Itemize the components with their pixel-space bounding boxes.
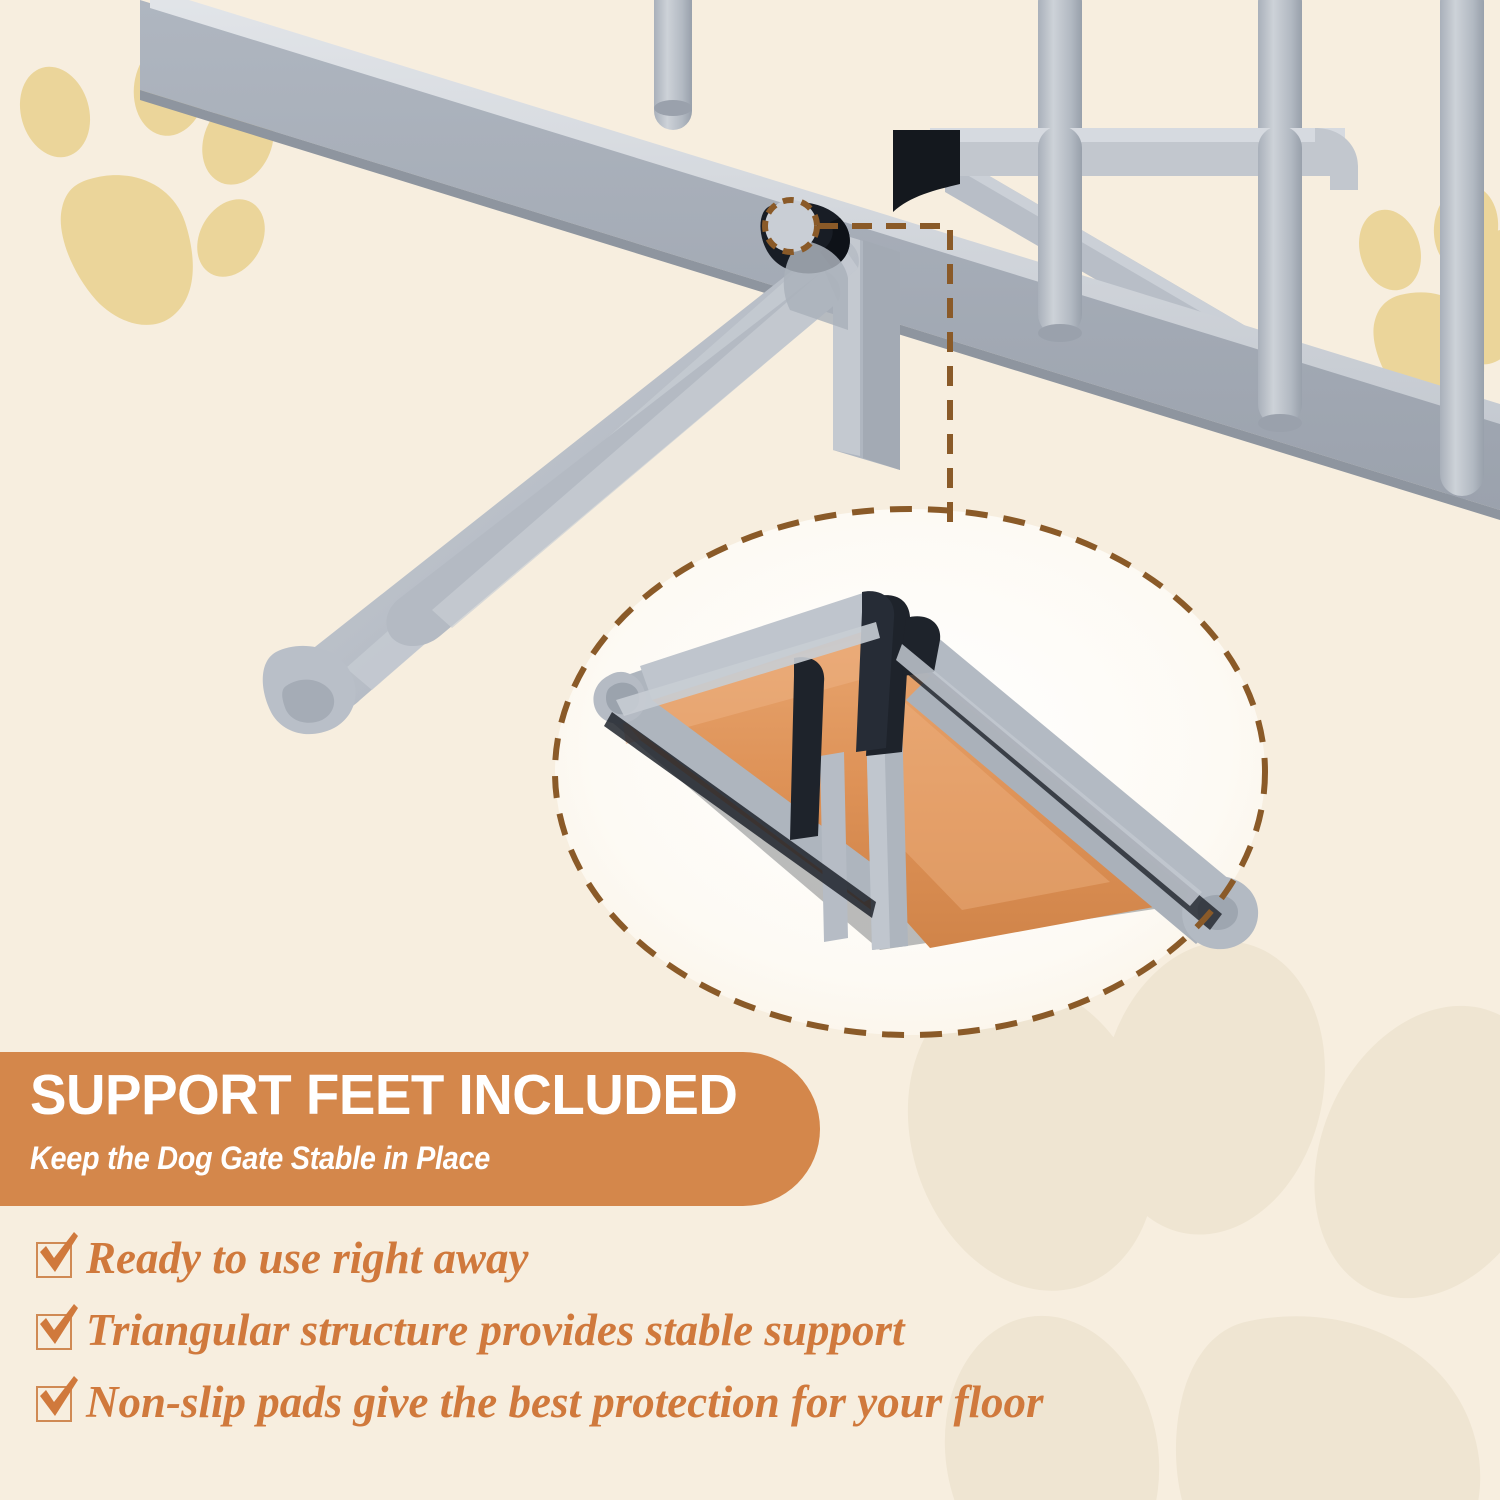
dashed-circle-marker [765,200,817,252]
checkbox-checked-icon [36,1242,74,1280]
banner-subtitle: Keep the Dog Gate Stable in Place [30,1140,490,1177]
list-item-label: Triangular structure provides stable sup… [86,1304,904,1356]
list-item: Triangular structure provides stable sup… [36,1304,1276,1360]
banner: SUPPORT FEET INCLUDED Keep the Dog Gate … [0,1052,820,1206]
checkbox-checked-icon [36,1386,74,1424]
gate-bar [654,0,692,116]
gate-bar [1038,126,1082,342]
checkbox-checked-icon [36,1314,74,1352]
gate-bar [1440,126,1484,496]
list-item-label: Non-slip pads give the best protection f… [86,1376,1043,1428]
list-item: Non-slip pads give the best protection f… [36,1376,1276,1432]
feature-list: Ready to use right away Triangular struc… [36,1232,1276,1448]
banner-title: SUPPORT FEET INCLUDED [30,1066,737,1126]
list-item: Ready to use right away [36,1232,1276,1288]
product-feature-image: SUPPORT FEET INCLUDED Keep the Dog Gate … [0,0,1500,1500]
gate-bar [1258,126,1302,432]
list-item-label: Ready to use right away [86,1232,529,1284]
